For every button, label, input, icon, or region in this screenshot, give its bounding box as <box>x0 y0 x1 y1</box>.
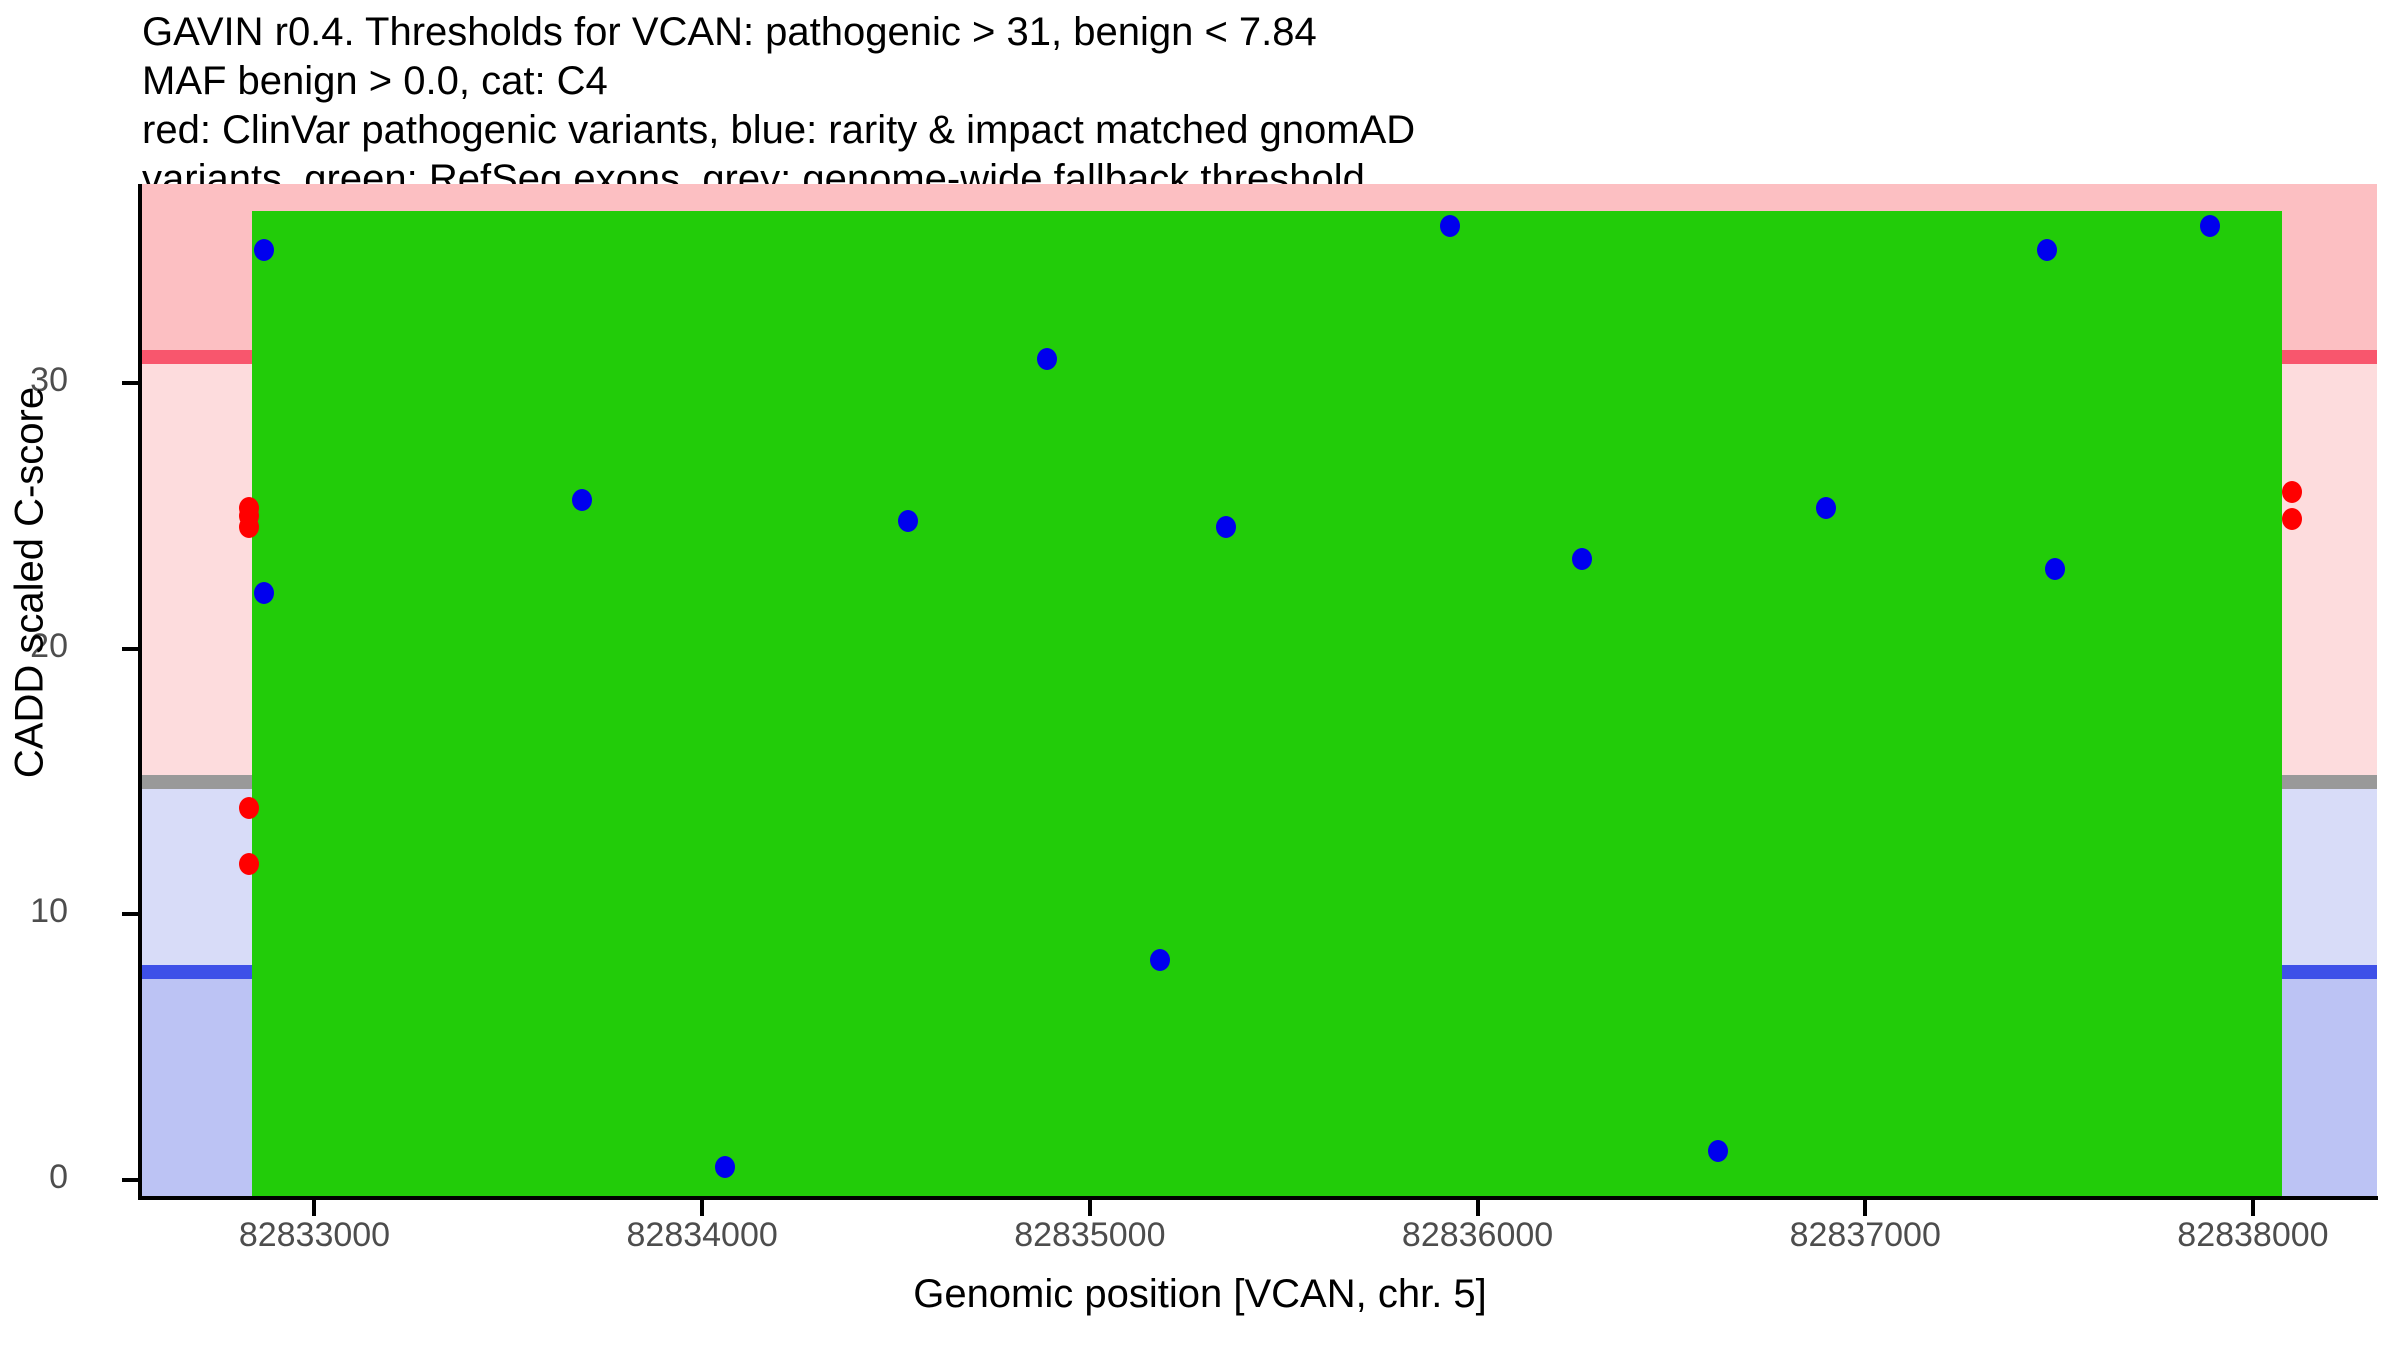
x-tick-mark <box>2251 1200 2255 1216</box>
x-tick-mark <box>1476 1200 1480 1216</box>
gnomad-point <box>1572 548 1592 570</box>
x-tick-label: 82834000 <box>627 1216 778 1255</box>
chart-page: GAVIN r0.4. Thresholds for VCAN: pathoge… <box>0 0 2400 1350</box>
y-tick-mark <box>122 912 138 916</box>
x-axis-title: Genomic position [VCAN, chr. 5] <box>0 1272 2400 1317</box>
clinvar-point <box>2282 481 2302 503</box>
gnomad-point <box>572 489 592 511</box>
x-tick-mark <box>312 1200 316 1216</box>
y-axis-title: CADD scaled C-score <box>8 223 53 943</box>
exon-rect <box>252 211 2282 1196</box>
gnomad-point <box>1216 516 1236 538</box>
x-tick-label: 82837000 <box>1790 1216 1941 1255</box>
x-tick-label: 82833000 <box>239 1216 390 1255</box>
y-tick-mark <box>122 1178 138 1182</box>
gnomad-point <box>1708 1140 1728 1162</box>
x-tick-mark <box>1863 1200 1867 1216</box>
title-line-3: red: ClinVar pathogenic variants, blue: … <box>142 106 2342 155</box>
title-line-2: MAF benign > 0.0, cat: C4 <box>142 57 2342 106</box>
clinvar-point <box>239 853 259 875</box>
gnomad-point <box>1150 949 1170 971</box>
y-tick-label: 0 <box>49 1158 68 1197</box>
gnomad-point <box>898 510 918 532</box>
y-axis-line <box>138 184 142 1196</box>
clinvar-point <box>2282 508 2302 530</box>
y-tick-mark <box>122 647 138 651</box>
clinvar-point <box>239 797 259 819</box>
chart-title-block: GAVIN r0.4. Thresholds for VCAN: pathoge… <box>142 8 2342 204</box>
x-tick-label: 82836000 <box>1402 1216 1553 1255</box>
plot-panel <box>140 184 2377 1196</box>
clinvar-point <box>239 516 259 538</box>
x-axis-line <box>138 1196 2378 1200</box>
x-tick-mark <box>1088 1200 1092 1216</box>
title-line-1: GAVIN r0.4. Thresholds for VCAN: pathoge… <box>142 8 2342 57</box>
x-tick-mark <box>700 1200 704 1216</box>
y-tick-mark <box>122 381 138 385</box>
x-tick-label: 82838000 <box>2177 1216 2328 1255</box>
x-tick-label: 82835000 <box>1014 1216 1165 1255</box>
gnomad-point <box>254 582 274 604</box>
